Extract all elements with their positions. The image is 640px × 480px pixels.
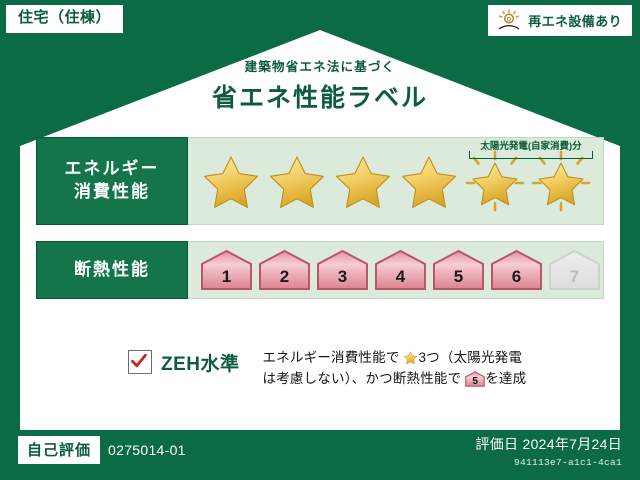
renewable-energy-badge-label: 再エネ設備あり (528, 11, 622, 30)
energy-performance-value: 太陽光発電(自家消費)分 (188, 137, 604, 225)
insulation-grade-scale: 1 2 3 4 (188, 242, 603, 298)
insulation-grade-badge: 4 (374, 249, 427, 291)
zeh-desc-line-1: エネルギー消費性能で 3つ（太陽光発電 (263, 348, 527, 369)
insulation-grade-number: 3 (316, 267, 369, 287)
insulation-performance-row: 断熱性能 1 2 (36, 241, 604, 299)
sun-icon: D (496, 9, 522, 31)
renewable-energy-badge: D 再エネ設備あり (488, 5, 632, 36)
energy-performance-label: 住宅（住棟） D 再エネ設備あり 建築物省エネ法に基づく 省エネ性能ラベル (0, 0, 640, 480)
insulation-grade-number: 1 (200, 267, 253, 287)
assessment-footer: 自己評価 0275014-01 (18, 436, 186, 464)
star-icon (398, 150, 460, 212)
insulation-grade-number: 4 (374, 267, 427, 287)
zeh-standard-block: ZEH水準 エネルギー消費性能で 3つ（太陽光発電 は考慮しない）、かつ断熱性能… (128, 348, 526, 390)
label-title-block: 建築物省エネ法に基づく 省エネ性能ラベル (0, 56, 640, 114)
insulation-grade-badge: 6 (490, 249, 543, 291)
insulation-grade-number: 5 (432, 267, 485, 287)
energy-performance-key: エネルギー 消費性能 (36, 137, 188, 225)
insulation-grade-badge: 2 (258, 249, 311, 291)
zeh-standard-label: ZEH水準 (161, 349, 240, 376)
insulation-grade-badge: 3 (316, 249, 369, 291)
insulation-grade-number: 2 (258, 267, 311, 287)
energy-performance-row: エネルギー 消費性能 (36, 137, 604, 225)
insulation-performance-key: 断熱性能 (36, 241, 188, 299)
assessment-type-tag: 自己評価 (18, 436, 100, 464)
evaluation-footer: 評価日 2024年7月24日 941113e7-a1c1-4ca1 (475, 434, 622, 468)
evaluation-date: 評価日 2024年7月24日 (475, 434, 622, 454)
assessment-number: 0275014-01 (108, 442, 186, 458)
star-icon (332, 150, 394, 212)
insulation-grade-badge-inactive: 7 (548, 249, 601, 291)
evaluation-id-hash: 941113e7-a1c1-4ca1 (475, 457, 622, 468)
document-type-tab: 住宅（住棟） (6, 5, 123, 33)
zeh-checkbox (128, 350, 152, 374)
zeh-desc-line1-b: 3つ（太陽光発電 (418, 350, 522, 365)
insulation-grade-number: 6 (490, 267, 543, 287)
solar-star-icon (530, 150, 592, 212)
inline-star-icon (403, 350, 418, 365)
label-title: 省エネ性能ラベル (0, 78, 640, 114)
insulation-grade-badge: 1 (200, 249, 253, 291)
energy-key-line1: エネルギー (65, 159, 160, 178)
energy-key-line2: 消費性能 (74, 182, 150, 201)
label-subtitle: 建築物省エネ法に基づく (0, 56, 640, 75)
check-icon (130, 352, 148, 370)
zeh-desc-line2-b: を達成 (485, 371, 526, 386)
zeh-desc-line1-a: エネルギー消費性能で (263, 350, 400, 365)
solar-star-icon (464, 150, 526, 212)
svg-text:D: D (507, 17, 512, 23)
star-icon (200, 150, 262, 212)
star-rating (194, 138, 603, 224)
zeh-desc-line-2: は考慮しない）、かつ断熱性能で 5 を達成 (263, 369, 527, 390)
star-icon (266, 150, 328, 212)
insulation-grade-number: 7 (548, 267, 601, 287)
zeh-standard-description: エネルギー消費性能で 3つ（太陽光発電 は考慮しない）、かつ断熱性能で 5 を達… (263, 348, 527, 390)
inline-insulation-badge: 5 (465, 371, 485, 387)
inline-insulation-badge-number: 5 (465, 377, 485, 387)
zeh-desc-line2-a: は考慮しない）、かつ断熱性能で (263, 371, 462, 386)
insulation-grade-badge: 5 (432, 249, 485, 291)
insulation-performance-value: 1 2 3 4 (188, 241, 604, 299)
